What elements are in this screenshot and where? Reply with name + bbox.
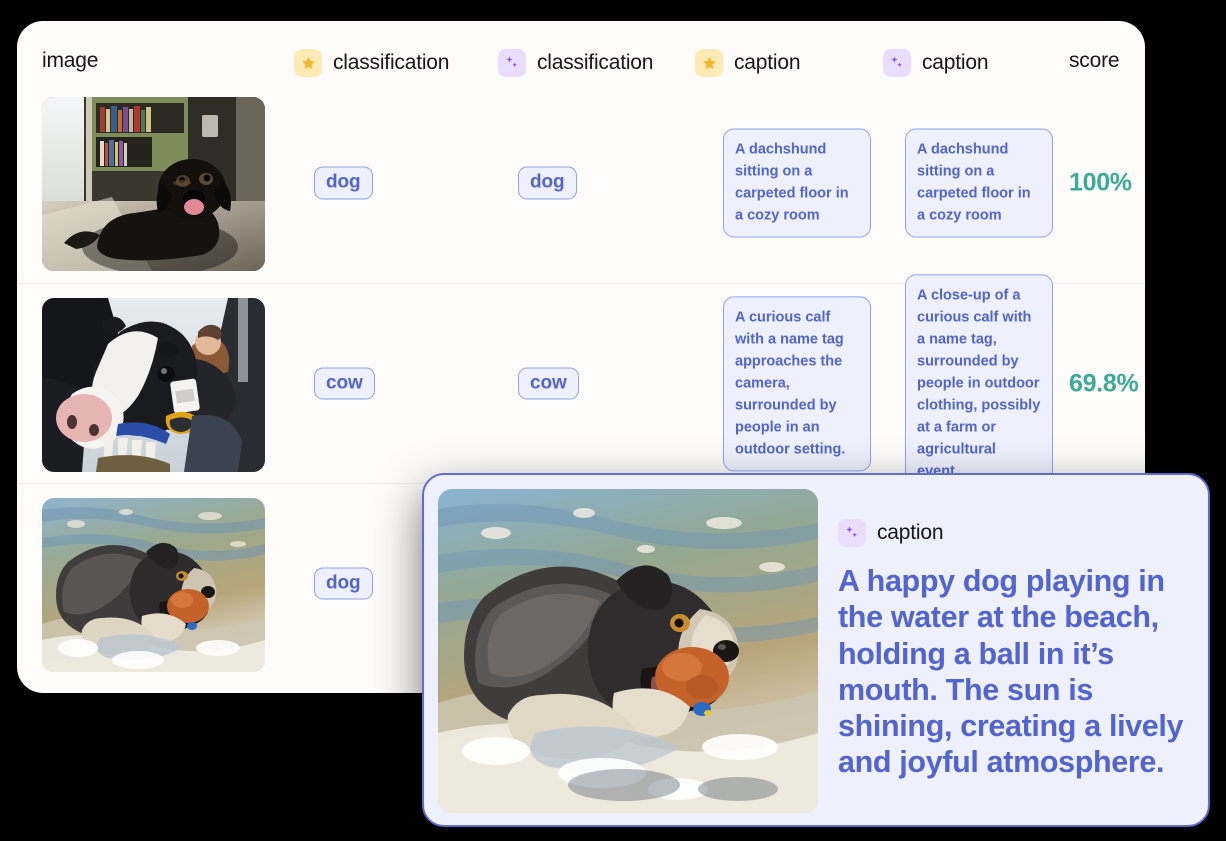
caption-cell-star[interactable]: A curious calf with a name tag approache… [723,296,871,471]
column-label-classification-ai: classification [537,51,653,75]
overlay-image[interactable] [438,489,818,813]
score-value: 100% [1069,169,1132,198]
column-header-classification-star: classification [294,49,449,77]
column-label-score: score [1069,49,1119,73]
classification-tag-ai[interactable]: dog [518,167,577,200]
tag-label: cow [518,367,579,400]
caption-cell-ai[interactable]: A dachshund sitting on a carpeted floor … [905,128,1053,237]
column-header-score: score [1069,49,1119,73]
caption-text: A curious calf with a name tag approache… [723,296,871,471]
table-row: dog dog A dachshund sitting on a carpete… [17,83,1145,283]
tag-label: cow [314,367,375,400]
classification-tag-star[interactable]: dog [314,567,373,600]
column-label-caption-ai: caption [922,51,988,75]
classification-tag-ai[interactable]: cow [518,367,579,400]
sparkle-icon [498,49,526,77]
star-icon [695,49,723,77]
sparkle-icon [883,49,911,77]
score-value: 69.8% [1069,369,1138,398]
tag-label: dog [314,167,373,200]
column-header-image: image [42,49,98,73]
caption-detail-overlay: caption A happy dog playing in the water… [422,473,1210,827]
column-header-caption-star: caption [695,49,800,77]
caption-text: A dachshund sitting on a carpeted floor … [905,128,1053,237]
overlay-content: caption A happy dog playing in the water… [838,489,1194,811]
caption-text: A close-up of a curious calf with a name… [905,274,1053,493]
row-thumbnail[interactable] [42,97,265,271]
column-label-caption-star: caption [734,51,800,75]
overlay-header: caption [838,519,1194,547]
classification-tag-star[interactable]: cow [314,367,375,400]
tag-label: dog [314,567,373,600]
column-header-caption-ai: caption [883,49,988,77]
caption-text: A dachshund sitting on a carpeted floor … [723,128,871,237]
classification-tag-star[interactable]: dog [314,167,373,200]
star-icon [294,49,322,77]
column-label-image: image [42,49,98,73]
row-thumbnail[interactable] [42,498,265,672]
row-thumbnail[interactable] [42,298,265,472]
caption-cell-ai[interactable]: A close-up of a curious calf with a name… [905,274,1053,493]
column-label-classification-star: classification [333,51,449,75]
sparkle-icon [838,519,866,547]
overlay-label: caption [877,521,943,545]
caption-cell-star[interactable]: A dachshund sitting on a carpeted floor … [723,128,871,237]
table-header: image classification classification capt… [17,21,1145,83]
overlay-caption-text: A happy dog playing in the water at the … [838,563,1194,781]
column-header-classification-ai: classification [498,49,653,77]
table-row: cow cow A curious calf with a name tag a… [17,283,1145,483]
tag-label: dog [518,167,577,200]
